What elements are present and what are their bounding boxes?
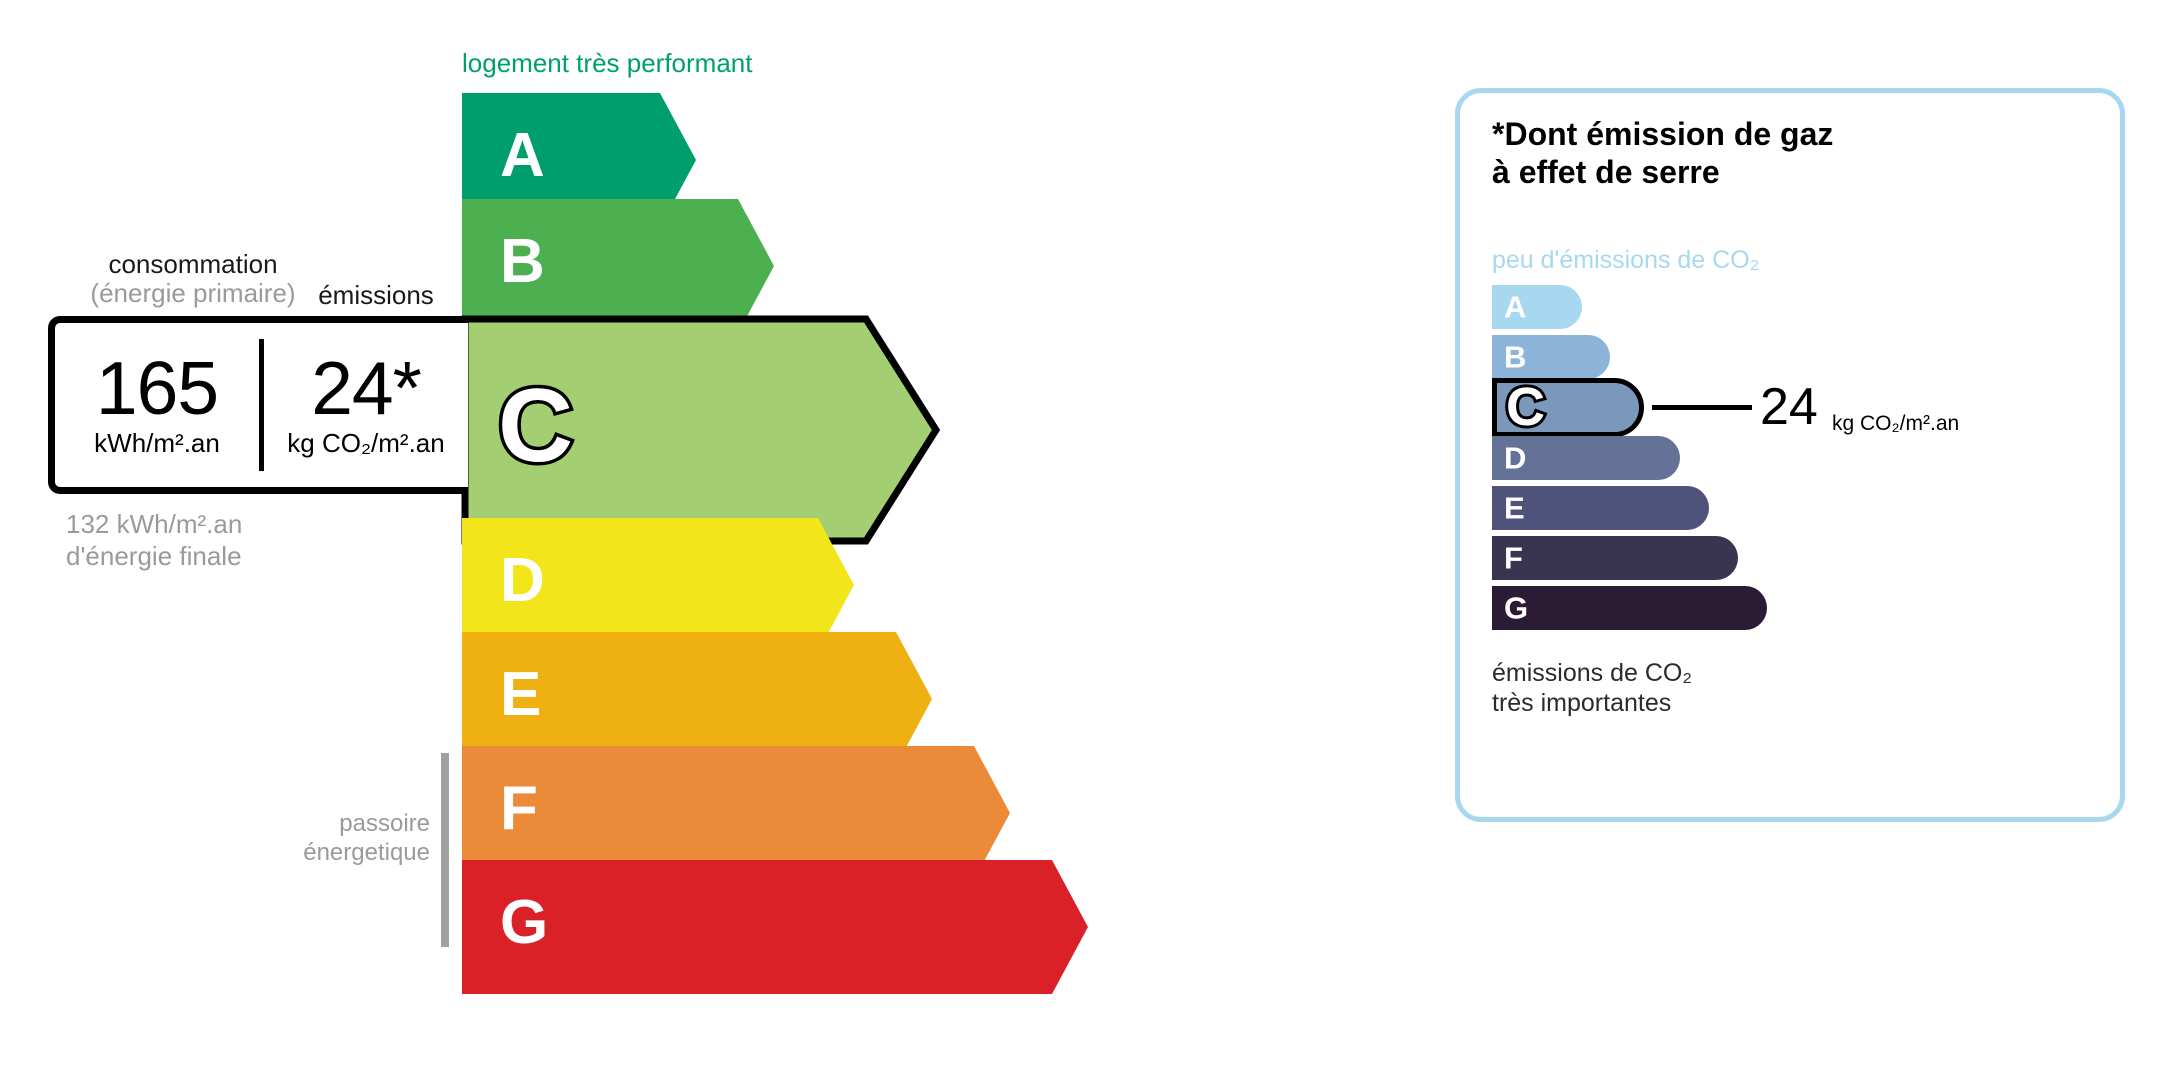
co2-bar-f[interactable] (1492, 536, 1738, 580)
co2-bottom-line-2: très importantes (1492, 688, 1692, 718)
emissions-header: émissions (296, 281, 456, 310)
consumption-header: consommation (énergie primaire) (68, 250, 318, 308)
energy-arrow-c[interactable] (465, 319, 936, 541)
emissions-value-unit: kg CO₂/m².an (287, 429, 444, 458)
energy-arrow-e[interactable] (462, 632, 932, 766)
energy-consumption-panel: logement très performant A B C D E F G (0, 0, 1380, 1079)
co2-bar-g[interactable] (1492, 586, 1767, 630)
co2-bar-letter-f: F (1504, 543, 1523, 574)
co2-bar-letter-d: D (1504, 443, 1526, 474)
emissions-value-cell: 24* kg CO₂/m².an (264, 323, 468, 487)
co2-bar-letter-b: B (1504, 342, 1526, 373)
consumption-value-unit: kWh/m².an (94, 429, 220, 458)
passoire-energetique-label: passoire énergetique (250, 810, 430, 868)
consumption-header-subtitle: (énergie primaire) (68, 279, 318, 308)
energy-arrow-b[interactable] (462, 199, 774, 333)
passoire-line-2: énergetique (250, 839, 430, 868)
consumption-value: 165 (96, 353, 218, 424)
dpe-value-box: 165 kWh/m².an 24* kg CO₂/m².an (48, 316, 468, 494)
passoire-line-1: passoire (250, 810, 430, 839)
final-energy-value: 132 kWh/m².an (66, 508, 242, 540)
co2-value: 24 (1760, 381, 1818, 433)
energy-arrow-f[interactable] (462, 746, 1010, 880)
co2-panel-title: *Dont émission de gaz à effet de serre (1492, 116, 1833, 192)
energy-scale-bottom-label: logement extrêmement consommateur d'éner… (462, 960, 1020, 986)
emissions-value: 24* (311, 353, 421, 424)
dpe-diagram: logement très performant A B C D E F G (0, 0, 2169, 1079)
consumption-header-title: consommation (108, 249, 277, 279)
co2-class-bars: A B C 24 kg CO₂/m².an D (1492, 285, 2092, 655)
final-energy-caption: d'énergie finale (66, 540, 242, 572)
co2-bottom-line-1: émissions de CO₂ (1492, 658, 1692, 688)
co2-title-line-1: *Dont émission de gaz (1492, 116, 1833, 154)
co2-bar-letter-g: G (1504, 593, 1528, 624)
consumption-value-cell: 165 kWh/m².an (55, 323, 259, 487)
co2-bar-letter-a: A (1504, 292, 1526, 323)
co2-bar-letter-c: C (1506, 380, 1545, 434)
final-energy-note: 132 kWh/m².an d'énergie finale (66, 508, 242, 572)
co2-leader-line (1652, 405, 1752, 410)
passoire-energetique-bracket (441, 753, 449, 947)
co2-bar-letter-e: E (1504, 493, 1525, 524)
co2-scale-top-label: peu d'émissions de CO₂ (1492, 248, 1759, 273)
co2-emissions-panel: *Dont émission de gaz à effet de serre p… (1455, 88, 2125, 822)
co2-value-unit: kg CO₂/m².an (1832, 413, 1959, 434)
energy-arrow-d[interactable] (462, 518, 854, 652)
co2-title-line-2: à effet de serre (1492, 154, 1833, 192)
co2-scale-bottom-label: émissions de CO₂ très importantes (1492, 658, 1692, 718)
